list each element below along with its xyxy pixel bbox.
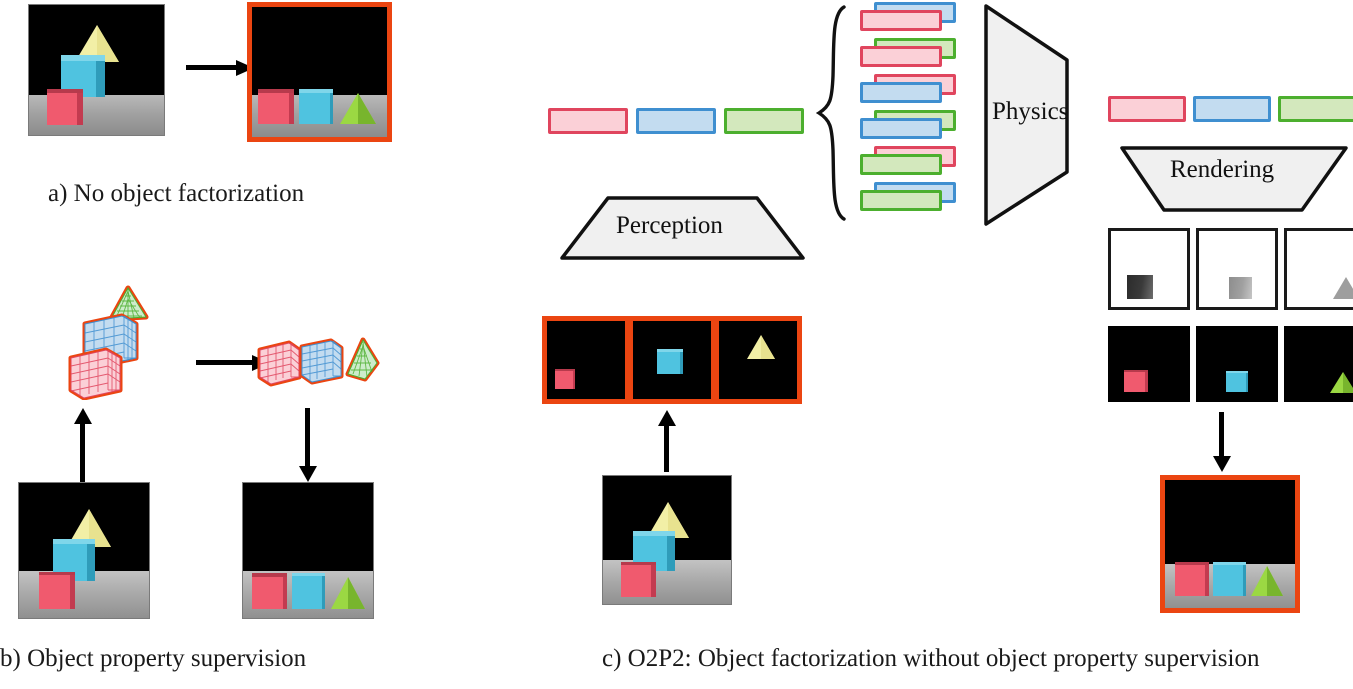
red-cube (39, 572, 75, 609)
arrow-head (74, 408, 92, 424)
arrow-shaft (196, 360, 256, 365)
pyramid-right-face (348, 577, 365, 609)
pair-vector-5 (860, 146, 960, 176)
blue-mesh-cube (302, 341, 341, 382)
cube-side-face (1243, 562, 1246, 596)
cube-front-face (1226, 371, 1248, 392)
render-panel-green-pyramid (1284, 326, 1353, 402)
pyramid-right-face (761, 335, 775, 359)
red-cube (621, 562, 656, 597)
cube-side-face (289, 89, 294, 124)
cube-side-face (651, 562, 656, 597)
pair-front-bar-red (860, 46, 942, 67)
red-cube (252, 573, 287, 609)
perception-label: Perception (616, 212, 723, 240)
dark-cube-mask (1127, 275, 1153, 299)
cube-side-face (322, 573, 325, 609)
panel-c: Perception (520, 0, 1353, 689)
panel-c-down-arrow (1212, 412, 1232, 474)
pyramid-right-face (358, 93, 376, 124)
cube-side-face (330, 89, 333, 124)
arrow-head (299, 466, 317, 482)
mask-panel-blue-cube (1196, 228, 1278, 310)
pair-front-bar-red (860, 10, 942, 31)
cube-top-face (621, 562, 656, 565)
cube-top-face (252, 573, 287, 577)
predicted-vector-group (1108, 96, 1353, 124)
green-pyramid (1330, 372, 1353, 393)
cube-side-face (87, 539, 95, 581)
panel-c-output-scene (1160, 475, 1300, 613)
cube-front-face (1175, 562, 1209, 596)
latent-vector-red (548, 108, 628, 134)
cube-top-face (1213, 562, 1246, 565)
panel-b-mesh-output (255, 332, 380, 394)
cube-top-face (299, 89, 333, 93)
pair-vector-2 (860, 38, 960, 68)
predicted-vector-green (1278, 96, 1353, 122)
render-panel-blue-cube (1196, 326, 1278, 402)
pyramid-right-face (1343, 372, 1353, 393)
panel-c-caption: c) O2P2: Object factorization without ob… (602, 645, 1259, 673)
cube-front-face (252, 573, 287, 609)
cube-front-face (555, 369, 575, 389)
green-mesh-pyramid (348, 340, 377, 379)
predicted-vector-red (1108, 96, 1186, 122)
cube-top-face (633, 531, 675, 536)
cube-front-face (1213, 562, 1246, 596)
cube-top-face (47, 89, 83, 93)
render-panel-red-cube (1108, 326, 1190, 402)
left-curly-brace (816, 4, 850, 222)
panel-b-mesh-input (58, 285, 188, 400)
cube-side-face (77, 89, 83, 125)
latent-vector-group (548, 108, 803, 136)
green-pyramid (1251, 566, 1283, 596)
red-mesh-cube (71, 350, 120, 398)
cube-top-face (555, 369, 575, 371)
pair-vector-1 (860, 2, 960, 32)
panel-b-caption: b) Object property supervision (0, 645, 306, 673)
panel-a-arrow (186, 60, 256, 74)
cube-side-face (573, 369, 575, 389)
arrow-shaft (664, 424, 669, 472)
cube-front-face (292, 573, 325, 609)
arrow-shaft (186, 65, 240, 70)
rendering-label: Rendering (1170, 156, 1274, 184)
cube-side-face (680, 349, 683, 374)
blue-cube (292, 573, 325, 609)
latent-vector-blue (636, 108, 716, 134)
red-cube (1124, 370, 1148, 392)
panel-a-output-scene (247, 2, 392, 142)
cube-side-face (70, 572, 75, 609)
yellow-pyramid (747, 335, 775, 359)
cube-top-face (292, 573, 325, 576)
segment-panel-yellow-pyramid (714, 316, 802, 404)
blue-cube (299, 89, 333, 124)
gray-pyramid-mask (1333, 277, 1353, 299)
physics-label: Physics (992, 98, 1068, 126)
pair-front-bar-blue (860, 118, 942, 139)
cube-top-face (1175, 562, 1209, 565)
cube-front-face (299, 89, 333, 124)
red-mesh-cube (260, 343, 299, 384)
panel-b-down-arrow (298, 408, 318, 483)
blue-cube (1226, 371, 1248, 392)
panel-b-up-arrow (73, 408, 93, 483)
red-cube (258, 89, 294, 124)
arrow-shaft (1219, 412, 1224, 460)
panel-a: a) No object factorization (0, 0, 420, 220)
blue-cube (1213, 562, 1246, 596)
arrow-head (1213, 456, 1231, 472)
cube-top-face (39, 572, 75, 575)
mask-panel-red-cube (1108, 228, 1190, 310)
pair-front-bar-green (860, 190, 942, 211)
panel-c-up-arrow (657, 410, 677, 472)
green-mesh-pyramid (111, 288, 146, 319)
latent-vector-green (724, 108, 804, 134)
predicted-vector-blue (1193, 96, 1271, 122)
panel-b-input-scene (18, 482, 150, 619)
cube-top-face (258, 89, 294, 93)
red-cube (555, 369, 575, 389)
gray-cube-mask (1229, 277, 1252, 299)
cube-side-face (1246, 371, 1248, 392)
pair-front-bar-green (860, 154, 942, 175)
panel-c-input-scene (602, 475, 732, 605)
cube-side-face (1205, 562, 1209, 596)
green-pyramid (331, 577, 365, 609)
cube-side-face (1145, 370, 1148, 392)
cube-side-face (283, 573, 287, 609)
pair-vector-6 (860, 182, 960, 212)
pair-front-bar-blue (860, 82, 942, 103)
red-cube (1175, 562, 1209, 596)
pyramid-right-face (1267, 566, 1283, 596)
panel-a-caption: a) No object factorization (48, 180, 304, 208)
pair-vector-group (860, 0, 970, 225)
panel-a-input-scene (28, 4, 165, 136)
cube-side-face (667, 531, 675, 571)
cube-top-face (61, 55, 105, 61)
red-cube (47, 89, 83, 125)
pair-vector-3 (860, 74, 960, 104)
segment-panel-red-cube (542, 316, 630, 404)
cube-top-face (1226, 371, 1248, 373)
panel-b-output-scene (242, 482, 374, 619)
pair-vector-4 (860, 110, 960, 140)
arrow-head (658, 410, 676, 426)
cube-top-face (657, 349, 683, 352)
cube-top-face (1124, 370, 1148, 372)
cube-top-face (53, 539, 95, 544)
mask-panel-green-pyramid (1284, 228, 1353, 310)
arrow-shaft (305, 408, 310, 470)
arrow-shaft (80, 420, 85, 482)
green-pyramid (340, 93, 376, 124)
panel-b: b) Object property supervision (0, 230, 420, 689)
cube-side-face (96, 55, 105, 97)
blue-cube (657, 349, 683, 374)
segment-panel-blue-cube (628, 316, 716, 404)
